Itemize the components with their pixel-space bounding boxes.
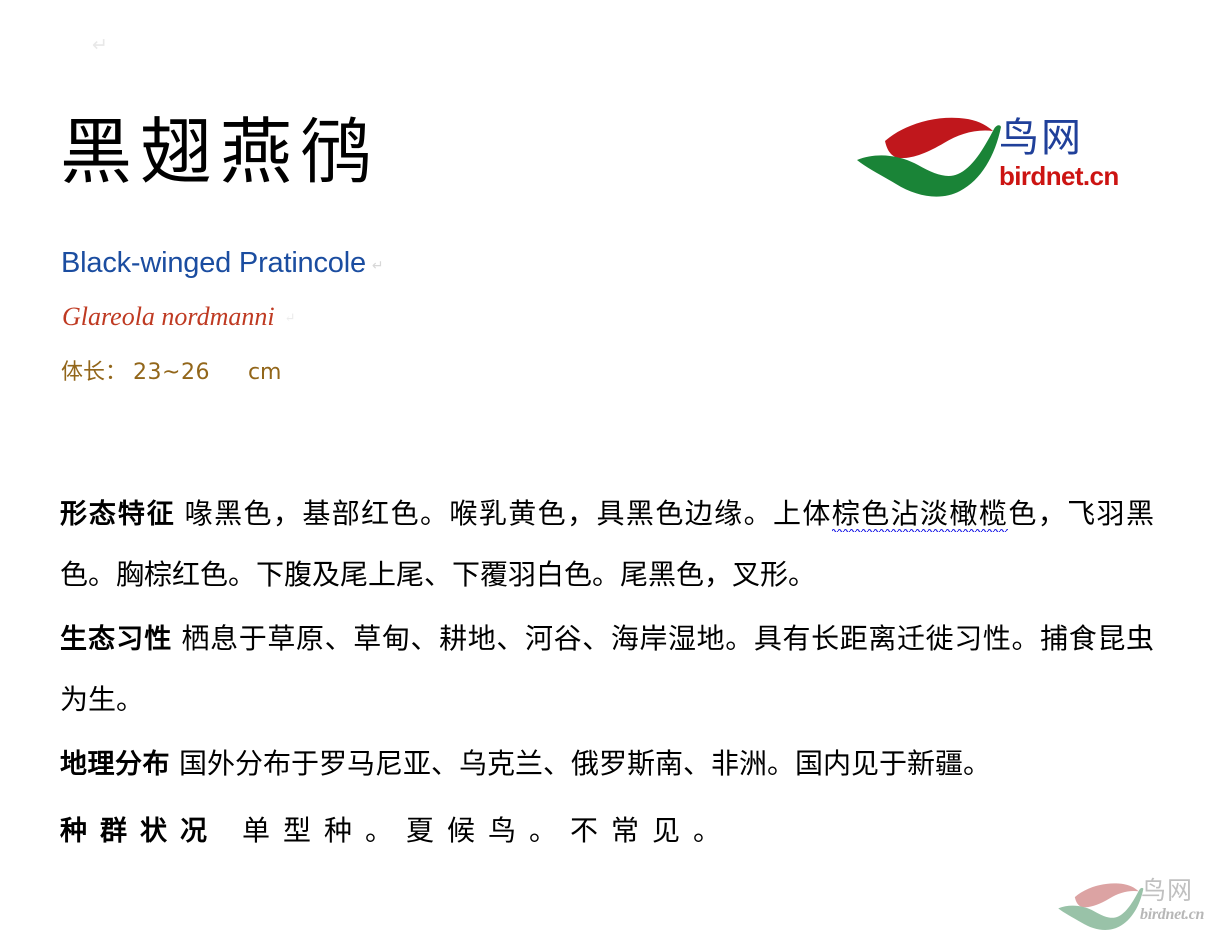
body-length-line: 体长：23~26cm	[61, 361, 281, 385]
morphology-text-part1: 喙黑色，基部红色。喉乳黄色，具黑色边缘。上体	[185, 497, 832, 530]
logo-url-text: birdnet.cn	[999, 163, 1119, 189]
spellcheck-underlined-text[interactable]: 棕色沾淡橄榄	[832, 497, 1009, 534]
paragraph-morphology: 形态特征喙黑色，基部红色。喉乳黄色，具黑色边缘。上体棕色沾淡橄榄色，飞羽黑色。胸…	[60, 484, 1154, 605]
paragraph-mark-icon: ↵	[366, 257, 384, 273]
watermark-name-chinese: 鸟网	[1141, 878, 1193, 903]
species-description: 形态特征喙黑色，基部红色。喉乳黄色，具黑色边缘。上体棕色沾淡橄榄色，飞羽黑色。胸…	[60, 484, 1154, 865]
birdnet-watermark: 鸟网 birdnet.cn	[1056, 878, 1206, 944]
body-length-label: 体长：	[61, 360, 127, 385]
english-name-text: Black-winged Pratincole	[61, 247, 366, 279]
watermark-url-text: birdnet.cn	[1140, 907, 1204, 923]
paragraph-population: 种群状况单型种。夏候鸟。不常见。	[60, 801, 1154, 862]
label-morphology: 形态特征	[60, 499, 185, 530]
distribution-text: 国外分布于罗马尼亚、乌克兰、俄罗斯南、非洲。国内见于新疆。	[179, 747, 991, 780]
scientific-name-text: Glareola nordmanni	[62, 302, 275, 331]
paragraph-mark-icon: ↵	[275, 310, 296, 325]
page-title-english: Black-winged Pratincole↵	[61, 248, 383, 280]
birdnet-logo[interactable]: 鸟网 birdnet.cn	[855, 112, 1095, 204]
paragraph-ecology: 生态习性栖息于草原、草甸、耕地、河谷、海岸湿地。具有长距离迁徙习性。捕食昆虫为生…	[60, 609, 1154, 730]
body-length-value: 23~26	[127, 360, 210, 385]
logo-swoosh-icon	[855, 112, 1007, 200]
label-distribution: 地理分布	[60, 749, 179, 780]
watermark-swoosh-icon	[1056, 880, 1148, 932]
paragraph-mark-icon: ↵	[92, 36, 108, 55]
document-page: ↵ 黑翅燕鸻 Black-winged Pratincole↵ Glareola…	[0, 0, 1209, 947]
population-text: 单型种。夏候鸟。不常见。	[242, 814, 734, 847]
body-length-unit: cm	[210, 360, 282, 385]
label-population: 种群状况	[60, 816, 242, 847]
scientific-name: Glareola nordmanni↵	[62, 303, 295, 332]
paragraph-distribution: 地理分布国外分布于罗马尼亚、乌克兰、俄罗斯南、非洲。国内见于新疆。	[60, 734, 1154, 795]
label-ecology: 生态习性	[60, 624, 182, 655]
ecology-text: 栖息于草原、草甸、耕地、河谷、海岸湿地。具有长距离迁徙习性。捕食昆虫为生。	[60, 622, 1154, 716]
logo-name-chinese: 鸟网	[999, 118, 1083, 158]
page-title-chinese: 黑翅燕鸻	[60, 116, 380, 188]
